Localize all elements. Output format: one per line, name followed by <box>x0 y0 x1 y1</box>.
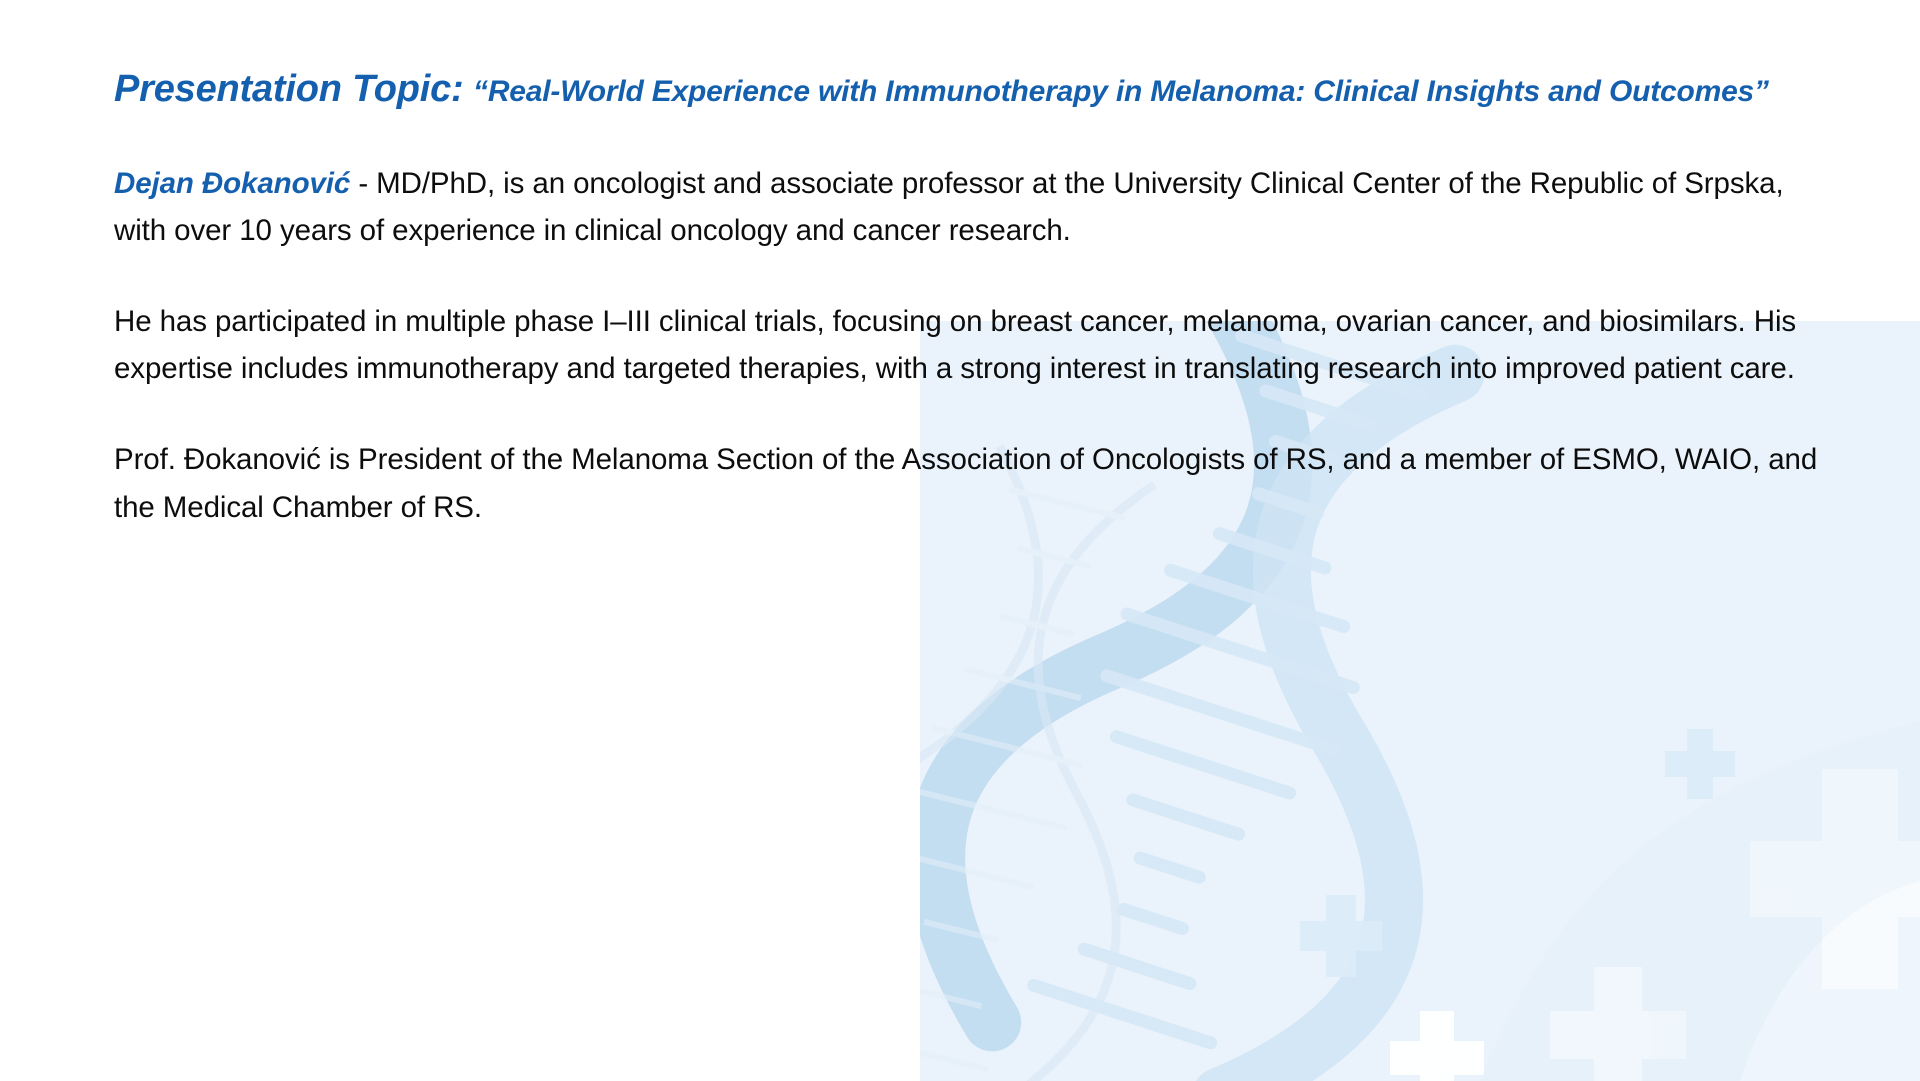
presentation-slide: Presentation Topic: “Real-World Experien… <box>0 0 1920 1081</box>
speaker-name: Dejan Đokanović <box>114 167 350 200</box>
bio-paragraph-2: He has participated in multiple phase I–… <box>114 298 1824 392</box>
slide-content: Presentation Topic: “Real-World Experien… <box>0 0 1920 531</box>
bio-paragraph-1-text: - MD/PhD, is an oncologist and associate… <box>114 167 1784 247</box>
page-title: Presentation Topic: “Real-World Experien… <box>114 56 1804 124</box>
bio-paragraph-1: Dejan Đokanović - MD/PhD, is an oncologi… <box>114 160 1824 254</box>
presentation-topic-text: “Real-World Experience with Immunotherap… <box>473 75 1769 108</box>
presentation-topic-label: Presentation Topic: <box>114 68 464 110</box>
speaker-bio: Dejan Đokanović - MD/PhD, is an oncologi… <box>114 160 1824 531</box>
bio-paragraph-3-text: Prof. Đokanović is President of the Mela… <box>114 443 1817 523</box>
bio-paragraph-2-text: He has participated in multiple phase I–… <box>114 305 1796 385</box>
bio-paragraph-3: Prof. Đokanović is President of the Mela… <box>114 436 1824 530</box>
